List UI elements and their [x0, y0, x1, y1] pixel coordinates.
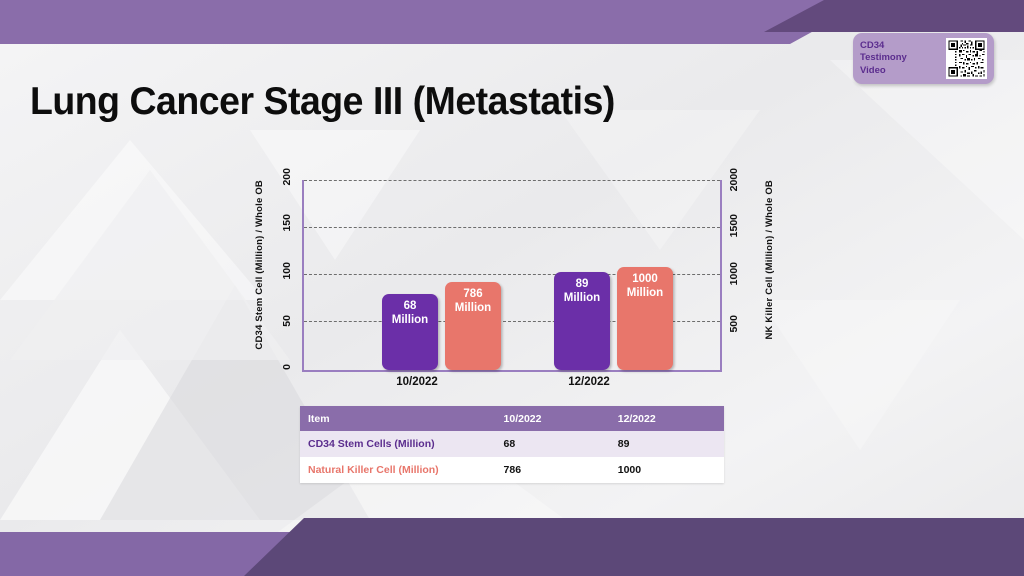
table-cell-cd34-12-2022: 89 [610, 431, 724, 457]
top-banner-light [0, 0, 870, 44]
category-label-10-2022: 10/2022 [362, 376, 472, 388]
bar-label-nk-12-2022: 1000Million [627, 273, 663, 299]
table-header-row: Item 10/2022 12/2022 [300, 406, 724, 431]
page-title: Lung Cancer Stage III (Metastatis) [30, 80, 615, 124]
left-tick-0: 0 [282, 364, 293, 370]
bar-cd34-12-2022[interactable]: 89Million [554, 272, 610, 370]
table-header-10-2022: 10/2022 [496, 406, 610, 431]
cd34-testimony-video-badge[interactable]: CD34 Testimony Video [853, 33, 994, 84]
table-cell-item-cd34: CD34 Stem Cells (Million) [300, 431, 496, 457]
badge-line-3: Video [860, 65, 946, 78]
left-tick-200: 200 [282, 168, 293, 186]
table-cell-nk-10-2022: 786 [496, 457, 610, 483]
qr-code-icon[interactable] [946, 38, 987, 79]
left-tick-150: 150 [282, 214, 293, 232]
badge-line-2: Testimony [860, 52, 946, 65]
right-tick-1000: 1000 [729, 262, 740, 285]
table-row: CD34 Stem Cells (Million) 68 89 [300, 431, 724, 457]
gridline-150 [304, 227, 720, 228]
table-header-12-2022: 12/2022 [610, 406, 724, 431]
left-tick-100: 100 [282, 262, 293, 280]
badge-text: CD34 Testimony Video [860, 40, 946, 78]
right-tick-1500: 1500 [729, 214, 740, 237]
right-tick-500: 500 [729, 315, 740, 333]
badge-line-1: CD34 [860, 40, 946, 53]
bar-nk-10-2022[interactable]: 786Million [445, 282, 501, 370]
bar-chart: CD34 Stem Cell (Million) / Whole OB NK K… [252, 172, 782, 392]
slide-canvas: Lung Cancer Stage III (Metastatis) CD34 … [0, 0, 1024, 576]
table-cell-item-nk: Natural Killer Cell (Million) [300, 457, 496, 483]
table-header-item: Item [300, 406, 496, 431]
bar-label-cd34-10-2022: 68Million [392, 300, 428, 326]
bar-cd34-10-2022[interactable]: 68Million [382, 294, 438, 370]
bottom-banner-dark [184, 518, 1024, 576]
table-row: Natural Killer Cell (Million) 786 1000 [300, 457, 724, 483]
plot-area: 68Million 786Million 89Million 1000Milli… [302, 180, 722, 372]
data-table: Item 10/2022 12/2022 CD34 Stem Cells (Mi… [300, 406, 724, 483]
bar-label-cd34-12-2022: 89Million [564, 278, 600, 304]
bar-label-nk-10-2022: 786Million [455, 288, 491, 314]
left-axis-title: CD34 Stem Cell (Million) / Whole OB [254, 180, 265, 350]
category-label-12-2022: 12/2022 [534, 376, 644, 388]
bar-nk-12-2022[interactable]: 1000Million [617, 267, 673, 370]
top-banner-dark [764, 0, 1024, 32]
table-cell-cd34-10-2022: 68 [496, 431, 610, 457]
right-axis-title: NK Killer Cell (Million) / Whole OB [764, 180, 775, 340]
left-tick-50: 50 [282, 315, 293, 327]
gridline-200 [304, 180, 720, 181]
table-cell-nk-12-2022: 1000 [610, 457, 724, 483]
right-tick-2000: 2000 [729, 168, 740, 191]
